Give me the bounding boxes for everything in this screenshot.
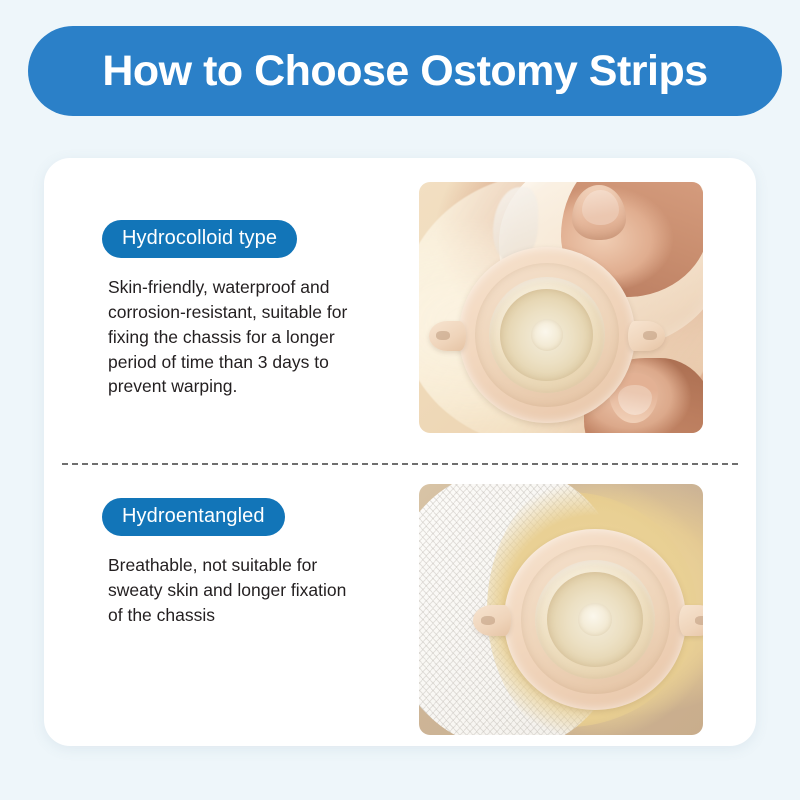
ostomy-flange bbox=[504, 529, 686, 710]
section-hydrocolloid: Hydrocolloid type Skin-friendly, waterpr… bbox=[44, 158, 756, 452]
flange-tab-right bbox=[628, 321, 665, 351]
section-hydrocolloid-text: Hydrocolloid type Skin-friendly, waterpr… bbox=[102, 220, 392, 399]
flange-window bbox=[535, 560, 655, 679]
ostomy-flange bbox=[459, 247, 635, 423]
flange-tab-left bbox=[429, 321, 466, 351]
badge-hydroentangled: Hydroentangled bbox=[102, 498, 285, 536]
photo-hydrocolloid-content bbox=[419, 182, 703, 433]
flange-window bbox=[489, 277, 605, 393]
description-hydroentangled: Breathable, not suitable for sweaty skin… bbox=[108, 553, 392, 628]
content-card: Hydrocolloid type Skin-friendly, waterpr… bbox=[44, 158, 756, 746]
photo-hydrocolloid bbox=[419, 182, 703, 433]
flange-tab-left-hole bbox=[436, 331, 450, 340]
flange-tab-left bbox=[473, 605, 511, 636]
flange-tab-right bbox=[679, 605, 703, 636]
description-hydrocolloid: Skin-friendly, waterproof and corrosion-… bbox=[108, 275, 392, 399]
flange-tab-right-hole bbox=[695, 616, 703, 625]
section-hydroentangled: Hydroentangled Breathable, not suitable … bbox=[44, 452, 756, 746]
header-banner: How to Choose Ostomy Strips bbox=[28, 26, 782, 116]
photo-hydroentangled bbox=[419, 484, 703, 735]
badge-hydrocolloid: Hydrocolloid type bbox=[102, 220, 297, 258]
flange-hub bbox=[531, 319, 564, 351]
section-hydroentangled-text: Hydroentangled Breathable, not suitable … bbox=[102, 498, 392, 628]
flange-tab-left-hole bbox=[481, 616, 495, 625]
flange-tab-right-hole bbox=[643, 331, 657, 340]
photo-hydroentangled-content bbox=[419, 484, 703, 735]
flange-hub bbox=[578, 603, 612, 636]
page-title: How to Choose Ostomy Strips bbox=[102, 50, 707, 93]
